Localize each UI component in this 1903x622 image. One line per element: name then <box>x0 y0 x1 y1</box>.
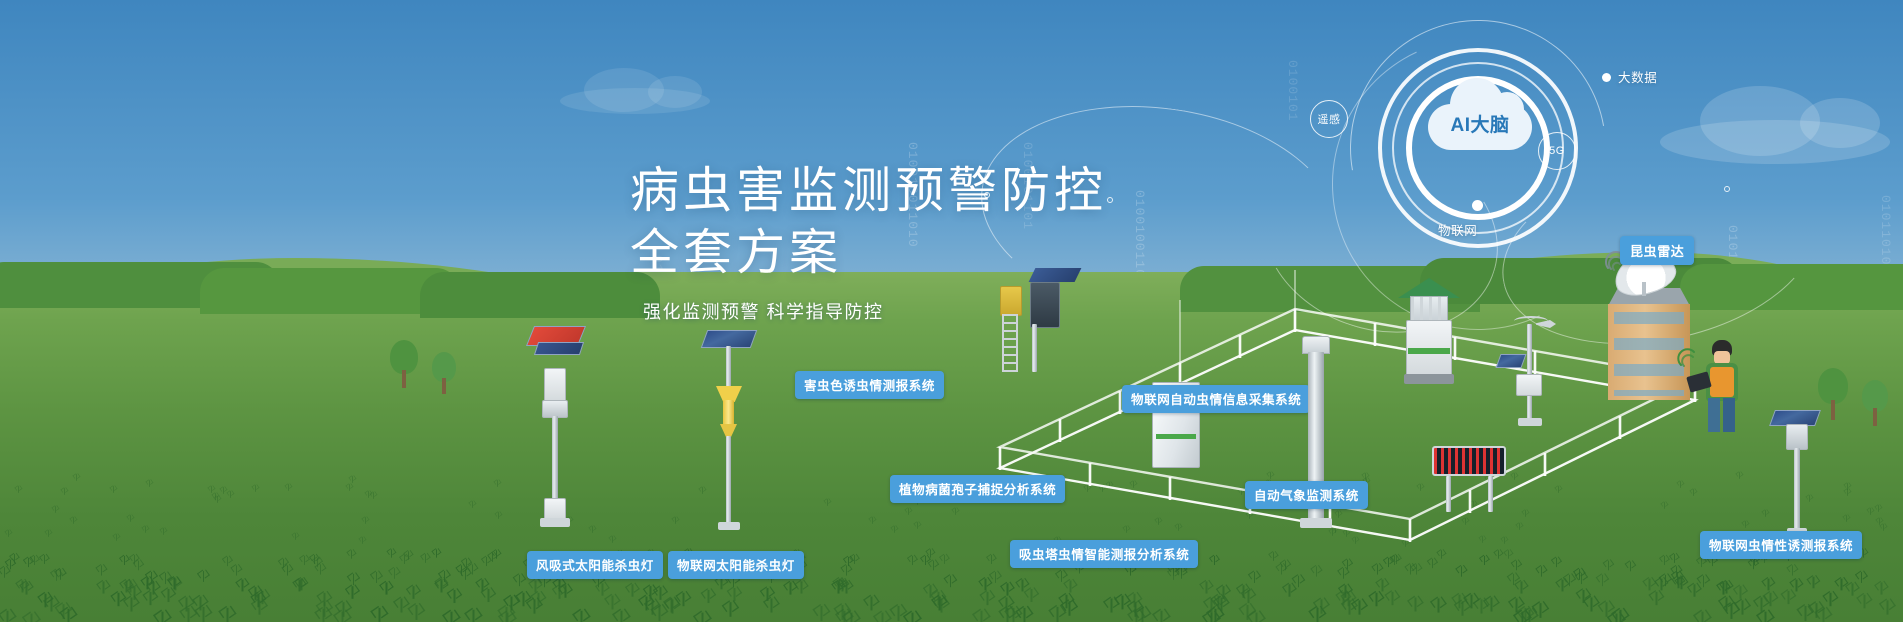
pheromone-trap-head <box>1786 424 1808 450</box>
node-iot-label: 物联网 <box>1438 220 1477 239</box>
trap-ladder <box>1002 314 1018 372</box>
collector-lamp-cage <box>1410 296 1448 322</box>
lamp-tube <box>723 400 734 426</box>
node-big-data-label: 大数据 <box>1618 67 1657 86</box>
lamp-head <box>544 368 566 402</box>
led-display-icon <box>1432 446 1506 516</box>
collector-green-band <box>1408 348 1450 354</box>
solar-panel-icon <box>1495 354 1526 368</box>
dish-mount <box>1642 282 1646 296</box>
trap-solar-panel-icon <box>1029 268 1082 282</box>
device-label-insect-radar-overlay[interactable]: 昆虫雷达 <box>1620 236 1694 265</box>
trap-pole <box>1794 448 1800 530</box>
device-label-pest-color-trap-forecast-system[interactable]: 害虫色诱虫情测报系统 <box>795 371 944 399</box>
tree-line <box>420 272 660 318</box>
node-5g[interactable]: 5G <box>1538 132 1576 170</box>
node-remote-sensing-label: 遥感 <box>1318 111 1341 127</box>
cloud-icon <box>560 88 710 114</box>
ai-brain-label: AI大脑 <box>1428 110 1532 137</box>
node-remote-sensing[interactable]: 遥感 <box>1310 100 1348 138</box>
pest-monitoring-banner: 010010011010 0100101101 01001001101101 0… <box>0 0 1903 622</box>
binary-decoration: 0100101 <box>1285 60 1300 122</box>
connector-endpoint <box>984 192 990 198</box>
device-label-iot-pest-pheromone-forecast-system[interactable]: 物联网虫情性诱测报系统 <box>1700 531 1862 559</box>
tower-base <box>1300 518 1332 528</box>
trap-cabinet <box>1030 282 1060 328</box>
collector-canopy <box>1398 278 1460 298</box>
collector-wheels <box>1404 374 1454 384</box>
weather-logger-box <box>1516 374 1542 396</box>
lamp-base <box>718 522 740 530</box>
device-label-auto-weather-monitoring-system[interactable]: 自动气象监测系统 <box>1245 481 1368 509</box>
equipment-iot-solar-lamp <box>700 330 760 546</box>
page-subtitle: 强化监测预警 科学指导防控 <box>643 298 884 324</box>
device-label-plant-pathogen-spore-capture-analysis-system[interactable]: 植物病菌孢子捕捉分析系统 <box>890 475 1065 503</box>
device-label-iot-solar-insect-lamp[interactable]: 物联网太阳能杀虫灯 <box>668 551 804 579</box>
tree-icon <box>1862 380 1888 426</box>
device-label-iot-auto-pest-info-collection-system[interactable]: 物联网自动虫情信息采集系统 <box>1122 385 1310 413</box>
weather-mast <box>1527 324 1532 420</box>
node-iot-dot <box>1472 200 1483 211</box>
connector-endpoint <box>1724 186 1730 192</box>
controller-box <box>544 498 566 520</box>
equipment-iot-pest-collector <box>1388 278 1468 408</box>
color-trap-board <box>1000 286 1022 316</box>
device-label-suction-tower-intelligent-forecast-analysis-system[interactable]: 吸虫塔虫情智能测报分析系统 <box>1010 540 1198 568</box>
equipment-pest-color-trap <box>988 266 1078 376</box>
worker-with-tablet-icon <box>1690 340 1750 436</box>
solar-panel-icon <box>534 342 584 355</box>
lamp-pole <box>726 436 731 524</box>
crop-field <box>0 572 1903 622</box>
equipment-auto-weather-station <box>1496 316 1566 446</box>
trap-pole <box>1032 324 1037 372</box>
lamp-base <box>540 518 570 527</box>
equipment-wind-suction-solar-lamp <box>520 326 590 546</box>
node-big-data-dot <box>1602 73 1611 82</box>
tree-icon <box>390 340 418 388</box>
analyzer-stripe <box>1156 434 1196 439</box>
node-5g-label: 5G <box>1549 145 1565 157</box>
building-windows <box>1614 312 1684 396</box>
device-label-wind-suction-solar-insect-lamp[interactable]: 风吸式太阳能杀虫灯 <box>527 551 663 579</box>
tree-icon <box>432 352 456 394</box>
equipment-iot-pheromone-trap <box>1768 410 1828 540</box>
connector-endpoint <box>1107 197 1113 203</box>
ai-brain-diagram: AI大脑 遥感 5G 大数据 物联网 <box>1320 30 1740 260</box>
weather-base <box>1518 418 1542 426</box>
lamp-pole <box>726 346 731 390</box>
